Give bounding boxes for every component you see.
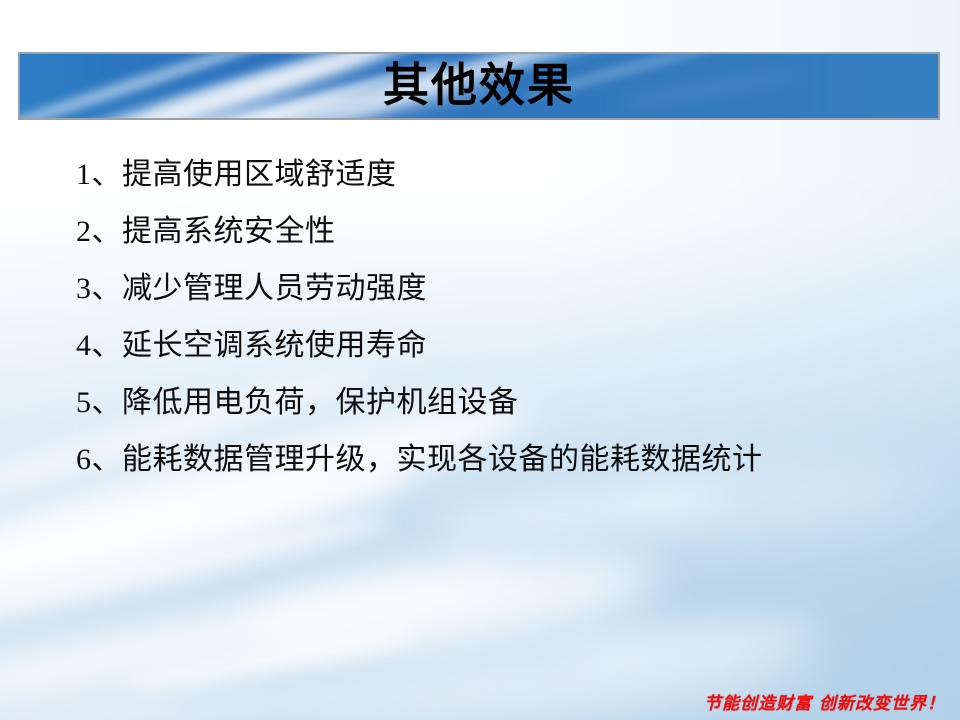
footer-slogan: 节能创造财富 创新改变世界！: [704, 689, 945, 714]
bullet-item-2: 2、提高系统安全性: [76, 203, 936, 260]
bullet-item-3: 3、减少管理人员劳动强度: [76, 260, 936, 317]
bullet-item-6: 6、能耗数据管理升级，实现各设备的能耗数据统计: [76, 431, 936, 488]
bullet-item-4: 4、延长空调系统使用寿命: [76, 317, 936, 374]
title-banner: 其他效果: [18, 52, 940, 120]
slide-title: 其他效果: [20, 54, 938, 118]
bullet-list: 1、提高使用区域舒适度 2、提高系统安全性 3、减少管理人员劳动强度 4、延长空…: [76, 146, 936, 488]
bullet-item-5: 5、降低用电负荷，保护机组设备: [76, 374, 936, 431]
bullet-item-1: 1、提高使用区域舒适度: [76, 146, 936, 203]
presentation-slide: 其他效果 1、提高使用区域舒适度 2、提高系统安全性 3、减少管理人员劳动强度 …: [0, 0, 960, 720]
